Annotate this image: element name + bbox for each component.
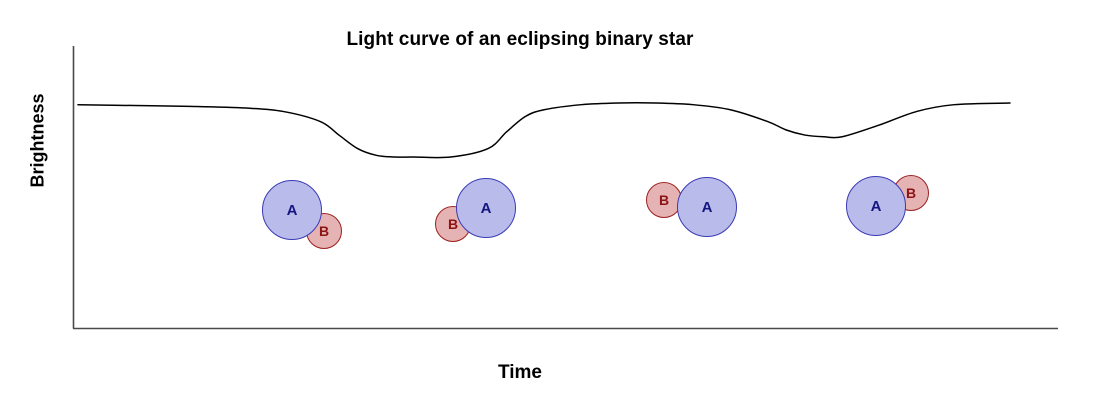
star-a-phase-3: A <box>677 177 737 237</box>
star-label: B <box>906 185 916 201</box>
star-label: A <box>702 199 713 216</box>
star-a-phase-4: A <box>846 176 906 236</box>
star-label: A <box>481 200 492 217</box>
light-curve-figure: Light curve of an eclipsing binary star … <box>0 0 1119 414</box>
light-curve-line <box>78 103 1010 158</box>
plot-area <box>0 0 1119 414</box>
star-label: B <box>448 216 458 232</box>
star-a-phase-2: A <box>456 178 516 238</box>
star-label: B <box>659 192 669 208</box>
star-a-phase-1: A <box>262 180 322 240</box>
star-label: A <box>871 198 882 215</box>
star-label: B <box>319 223 329 239</box>
star-label: A <box>287 202 298 219</box>
